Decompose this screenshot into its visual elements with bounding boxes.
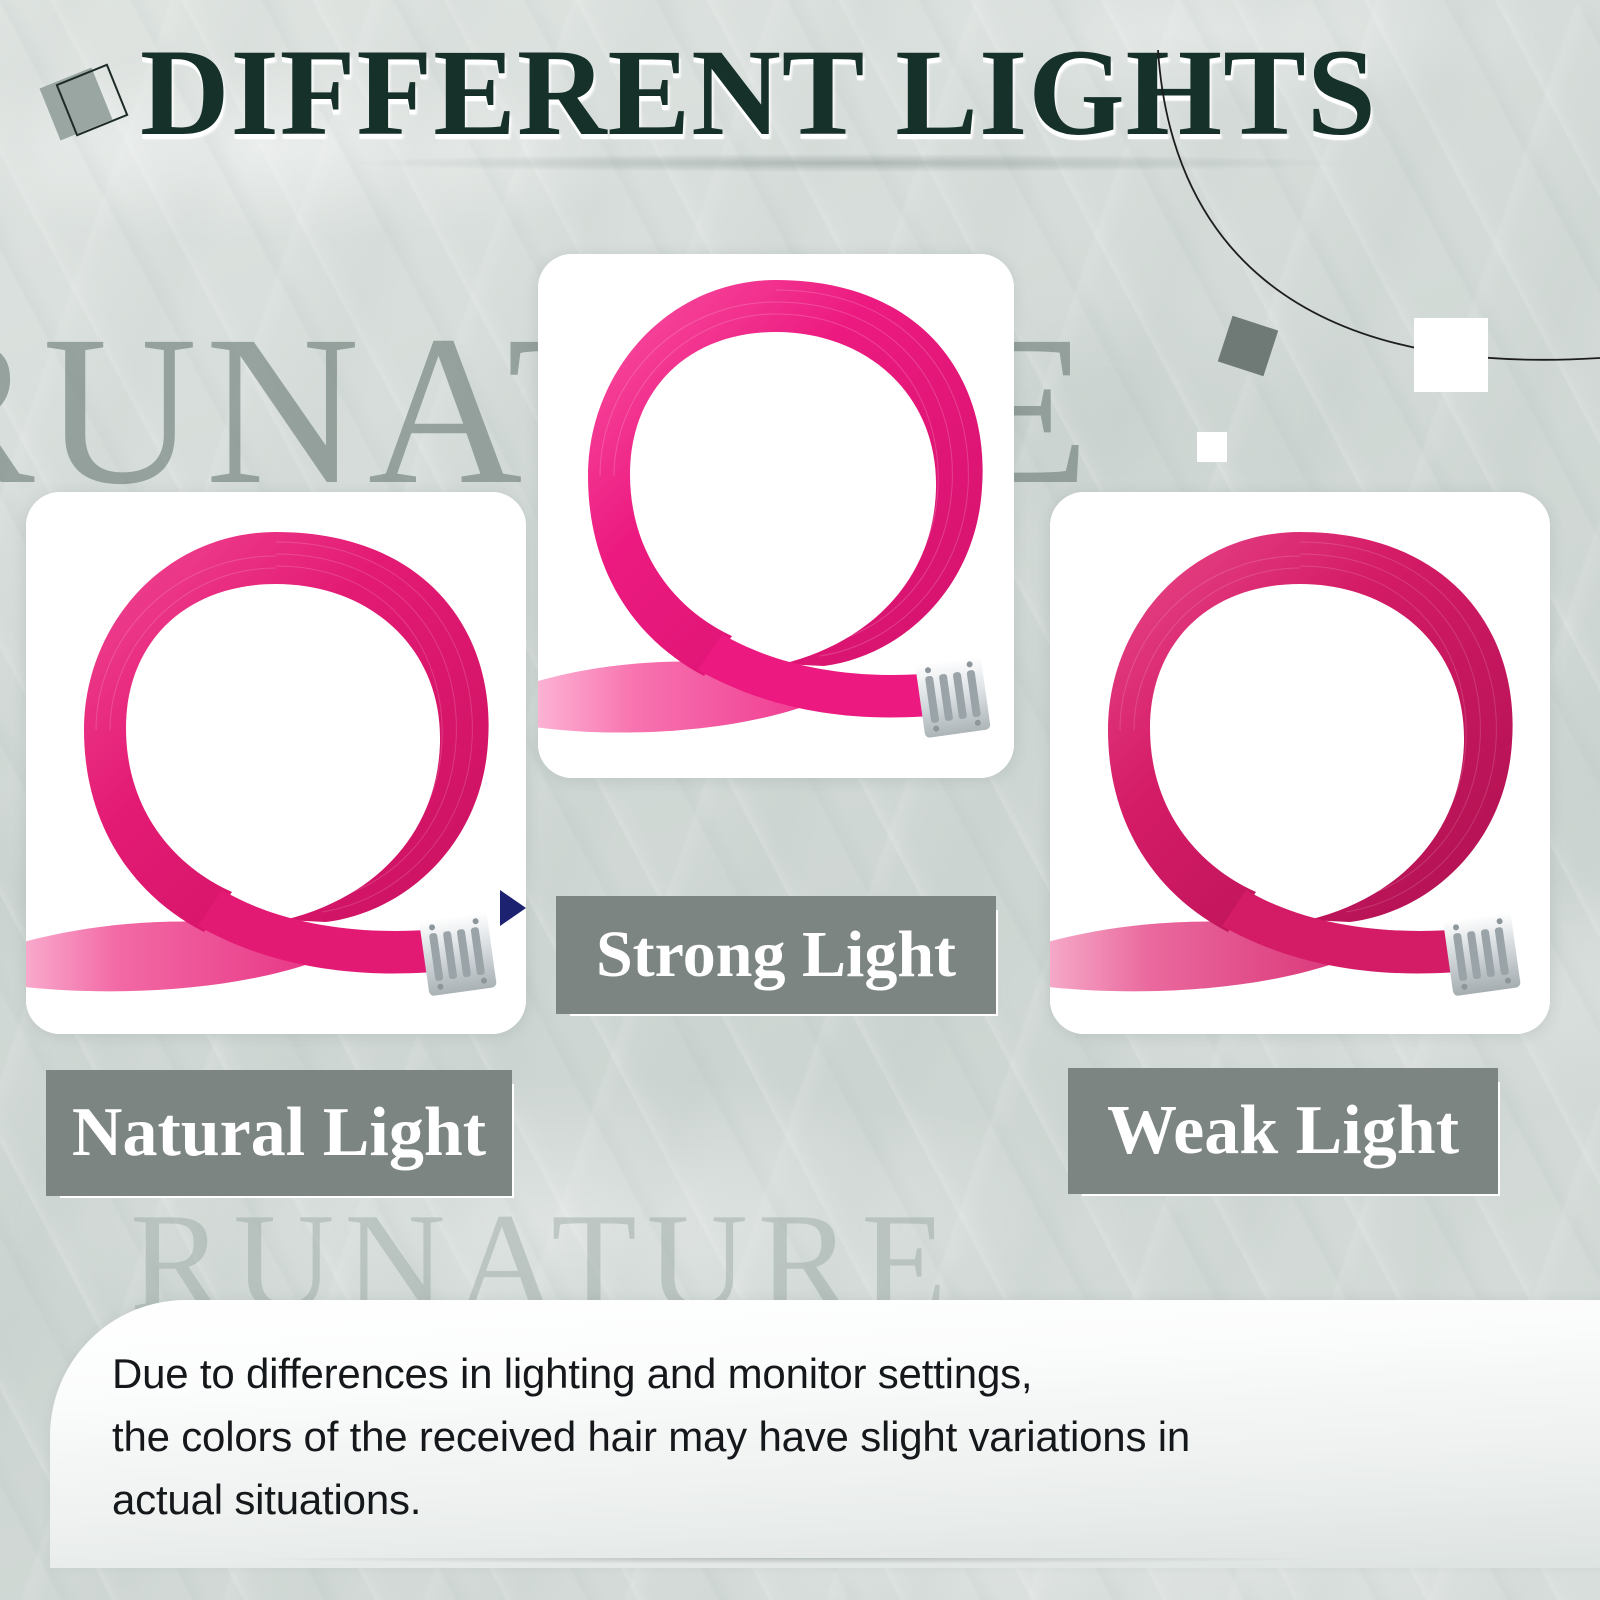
disclaimer-panel-shadow [60,1558,1520,1574]
product-card-strong[interactable] [538,254,1014,778]
label-weak-light-text: Weak Light [1107,1091,1459,1171]
label-natural-light-text: Natural Light [72,1093,486,1173]
label-strong-light-text: Strong Light [596,917,956,993]
label-strong-light: Strong Light [556,896,996,1014]
decorative-white-square-small [1197,432,1227,462]
product-card-natural[interactable] [26,492,526,1034]
label-natural-light-box: Natural Light [46,1070,512,1196]
rotated-squares-icon [44,68,122,146]
product-card-weak[interactable] [1050,492,1550,1034]
pointer-arrow-icon [500,890,526,926]
hair-clip-icon [419,912,497,997]
label-natural-light: Natural Light [46,1070,512,1196]
disclaimer-text: Due to differences in lighting and monit… [112,1342,1600,1531]
hair-clip-icon [915,656,991,738]
decorative-white-square [1414,318,1488,392]
hair-extension-image-strong [538,254,1014,778]
hair-clip-icon [1443,912,1521,997]
label-weak-light-box: Weak Light [1068,1068,1498,1194]
label-weak-light: Weak Light [1068,1068,1498,1194]
poster-canvas: RUNATURE RUNATURE DIFFERENT LIGHTS [0,0,1600,1600]
curved-arc-line [1080,110,1600,440]
label-strong-light-box: Strong Light [556,896,996,1014]
disclaimer-panel: Due to differences in lighting and monit… [50,1300,1600,1568]
hair-extension-image-weak [1050,492,1550,1034]
hair-extension-image-natural [26,492,526,1034]
